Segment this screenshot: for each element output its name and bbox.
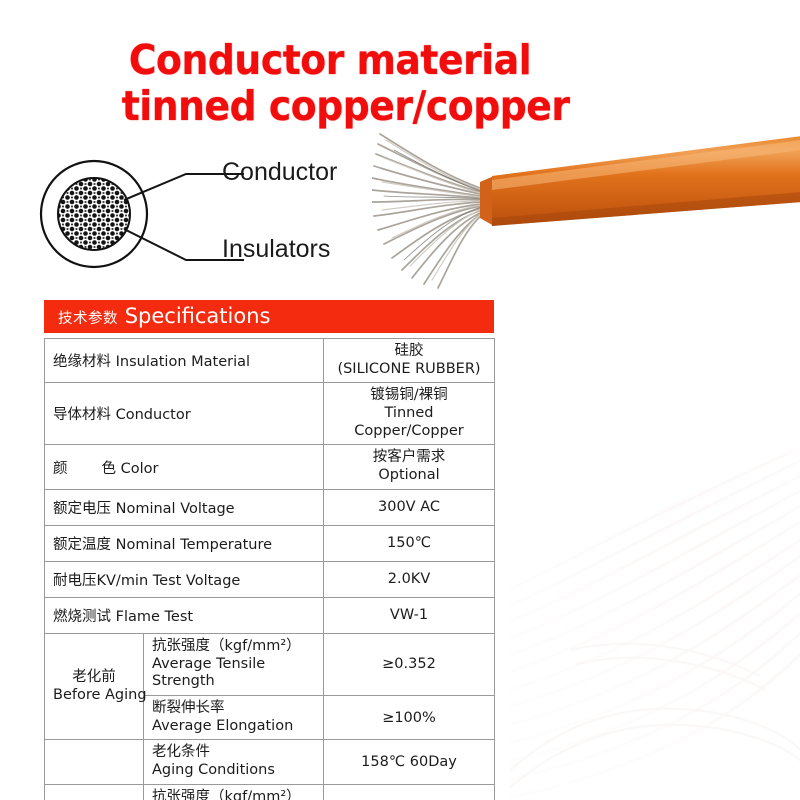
value-cn: 按客户需求 <box>332 449 486 467</box>
row-label-insulation-material: 绝缘材料 Insulation Material <box>45 339 324 383</box>
sub-label-cn: 老化条件 <box>152 744 315 762</box>
label-cn: 额定电压 <box>53 501 111 517</box>
table-row: 绝缘材料 Insulation Material 硅胶 (SILICONE RU… <box>45 339 495 383</box>
sub-label-cn: 断裂伸长率 <box>152 700 315 718</box>
spec-header-en: Specifications <box>125 304 271 328</box>
table-row: 老化前 Before Aging 抗张强度（kgf/mm²） Average T… <box>45 633 495 695</box>
value-en: Optional <box>332 467 486 485</box>
value-aging-conditions: 158℃ 60Day <box>324 740 495 784</box>
value-en: (SILICONE RUBBER) <box>332 361 486 379</box>
sub-label-en: Average Elongation <box>152 718 315 736</box>
label-cn: 绝缘材料 <box>53 354 111 370</box>
aging-conditions-empty-cell <box>45 740 144 784</box>
background-wire-coil-image <box>510 450 800 800</box>
label-en: Color <box>121 461 159 477</box>
spec-header-cn: 技术参数 <box>58 311 118 327</box>
label-en: Insulation Material <box>116 354 250 370</box>
specifications-table: 绝缘材料 Insulation Material 硅胶 (SILICONE RU… <box>44 338 495 800</box>
sub-label-aging-conditions: 老化条件 Aging Conditions <box>144 740 324 784</box>
label-en: Test Voltage <box>153 573 241 589</box>
sub-label-after-aging-tensile: 抗张强度（kgf/mm²） Average Tensile Strength <box>144 784 324 800</box>
row-value-nominal-temperature: 150℃ <box>324 525 495 561</box>
sub-label-en: Aging Conditions <box>152 762 315 780</box>
label-cn: 颜 <box>53 461 68 477</box>
product-spec-page: Conductor material tinned copper/copper <box>0 0 800 800</box>
label-en: Nominal Temperature <box>116 537 272 553</box>
diagram-label-conductor: Conductor <box>222 158 337 187</box>
row-value-conductor: 镀锡铜/裸铜 Tinned Copper/Copper <box>324 383 495 445</box>
sub-label-cn: 抗张强度（kgf/mm²） <box>152 638 315 656</box>
value-before-aging-elongation: ≥100% <box>324 695 495 739</box>
row-label-flame-test: 燃烧测试 Flame Test <box>45 597 324 633</box>
group-label-before-aging: 老化前 Before Aging <box>45 633 144 739</box>
table-row: 额定电压 Nominal Voltage 300V AC <box>45 489 495 525</box>
value-before-aging-tensile: ≥0.352 <box>324 633 495 695</box>
group-label-after-aging: 老化后 After Aging <box>45 784 144 800</box>
sub-label-before-aging-tensile: 抗张强度（kgf/mm²） Average Tensile Strength <box>144 633 324 695</box>
group-label-cn: 老化前 <box>53 669 135 687</box>
sub-label-cn: 抗张强度（kgf/mm²） <box>152 789 315 800</box>
label-en: Conductor <box>116 407 191 423</box>
table-row: 耐电压KV/min Test Voltage 2.0KV <box>45 561 495 597</box>
row-label-nominal-voltage: 额定电压 Nominal Voltage <box>45 489 324 525</box>
row-label-nominal-temperature: 额定温度 Nominal Temperature <box>45 525 324 561</box>
row-value-color: 按客户需求 Optional <box>324 445 495 489</box>
row-label-conductor: 导体材料 Conductor <box>45 383 324 445</box>
row-value-flame-test: VW-1 <box>324 597 495 633</box>
wire-cross-section-diagram: Conductor Insulators <box>36 148 376 288</box>
table-row: 额定温度 Nominal Temperature 150℃ <box>45 525 495 561</box>
row-value-test-voltage: 2.0KV <box>324 561 495 597</box>
label-en: Nominal Voltage <box>116 501 235 517</box>
sub-label-before-aging-elongation: 断裂伸长率 Average Elongation <box>144 695 324 739</box>
label-cn: 导体材料 <box>53 407 111 423</box>
table-row: 老化条件 Aging Conditions 158℃ 60Day <box>45 740 495 784</box>
table-row: 老化后 After Aging 抗张强度（kgf/mm²） Average Te… <box>45 784 495 800</box>
table-row: 燃烧测试 Flame Test VW-1 <box>45 597 495 633</box>
row-value-nominal-voltage: 300V AC <box>324 489 495 525</box>
value-cn: 硅胶 <box>332 343 486 361</box>
row-label-test-voltage: 耐电压KV/min Test Voltage <box>45 561 324 597</box>
value-after-aging-tensile: ≥0.352 <box>324 784 495 800</box>
page-title: Conductor material tinned copper/copper <box>26 38 633 130</box>
diagram-label-insulators: Insulators <box>222 235 330 264</box>
label-en: Flame Test <box>116 609 193 625</box>
value-cn: 镀锡铜/裸铜 <box>332 387 486 405</box>
title-line-1: Conductor material <box>129 36 531 84</box>
table-row: 颜色 Color 按客户需求 Optional <box>45 445 495 489</box>
value-en: Tinned Copper/Copper <box>332 405 486 440</box>
row-value-insulation-material: 硅胶 (SILICONE RUBBER) <box>324 339 495 383</box>
label-cn: 额定温度 <box>53 537 111 553</box>
label-cn: 燃烧测试 <box>53 609 111 625</box>
label-cn: 耐电压KV/min <box>53 573 148 589</box>
row-label-color: 颜色 Color <box>45 445 324 489</box>
label-cn-2: 色 <box>102 461 117 477</box>
group-label-en: Before Aging <box>53 687 135 705</box>
sub-label-en: Average Tensile Strength <box>152 656 315 691</box>
table-row: 导体材料 Conductor 镀锡铜/裸铜 Tinned Copper/Copp… <box>45 383 495 445</box>
silicone-wire-photo <box>372 120 800 300</box>
spec-table-header: 技术参数 Specifications <box>44 300 494 333</box>
